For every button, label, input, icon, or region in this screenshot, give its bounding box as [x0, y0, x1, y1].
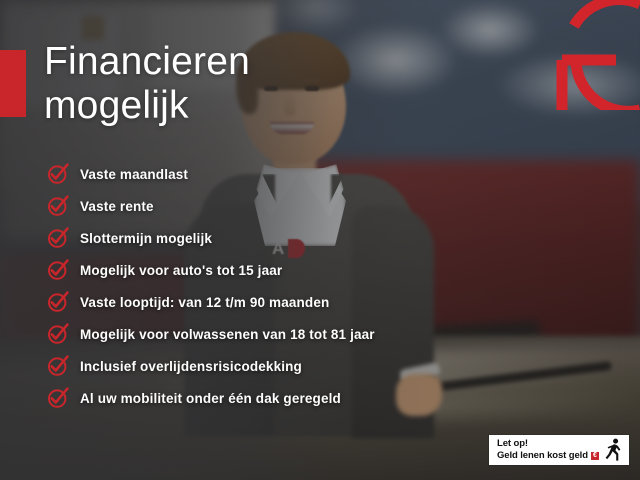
- check-circle-icon: [47, 387, 69, 409]
- list-item: Slottermijn mogelijk: [47, 222, 467, 254]
- check-circle-icon: [47, 259, 69, 281]
- euro-icon: €: [591, 452, 599, 460]
- check-circle-icon: [47, 195, 69, 217]
- headline-line-1: Financieren: [44, 40, 250, 83]
- list-item: Mogelijk voor volwassenen van 18 tot 81 …: [47, 318, 467, 350]
- feature-list: Vaste maandlastVaste renteSlottermijn mo…: [47, 158, 467, 414]
- warning-line-2: Geld lenen kost geld€: [497, 450, 604, 462]
- walking-man-icon: [604, 438, 623, 462]
- list-item-label: Vaste maandlast: [80, 167, 188, 182]
- list-item: Vaste rente: [47, 190, 467, 222]
- list-item-label: Vaste rente: [80, 199, 154, 214]
- banner-root: A Financieren mogelijk Vaste maandlastVa…: [0, 0, 640, 480]
- check-circle-icon: [47, 227, 69, 249]
- list-item-label: Mogelijk voor volwassenen van 18 tot 81 …: [80, 327, 375, 342]
- status-badge: Let op! Geld lenen kost geld€: [489, 435, 629, 465]
- list-item-label: Al uw mobiliteit onder één dak geregeld: [80, 391, 341, 406]
- list-item: Mogelijk voor auto's tot 15 jaar: [47, 254, 467, 286]
- warning-text: Let op! Geld lenen kost geld€: [497, 438, 604, 462]
- check-circle-icon: [47, 291, 69, 313]
- list-item: Al uw mobiliteit onder één dak geregeld: [47, 382, 467, 414]
- list-item-label: Vaste looptijd: van 12 t/m 90 maanden: [80, 295, 329, 310]
- page-title: Financieren mogelijk: [44, 40, 374, 128]
- list-item: Inclusief overlijdensrisicodekking: [47, 350, 467, 382]
- red-block-accent: [0, 50, 26, 117]
- check-circle-icon: [47, 323, 69, 345]
- warning-line-1: Let op!: [497, 438, 604, 450]
- list-item-label: Mogelijk voor auto's tot 15 jaar: [80, 263, 282, 278]
- circular-arrow-logo-icon: [544, 0, 640, 110]
- check-circle-icon: [47, 163, 69, 185]
- list-item-label: Slottermijn mogelijk: [80, 231, 212, 246]
- check-circle-icon: [47, 355, 69, 377]
- list-item: Vaste maandlast: [47, 158, 467, 190]
- list-item-label: Inclusief overlijdensrisicodekking: [80, 359, 302, 374]
- warning-line-2-text: Geld lenen kost geld: [497, 450, 588, 461]
- list-item: Vaste looptijd: van 12 t/m 90 maanden: [47, 286, 467, 318]
- headline-line-2: mogelijk: [44, 84, 374, 128]
